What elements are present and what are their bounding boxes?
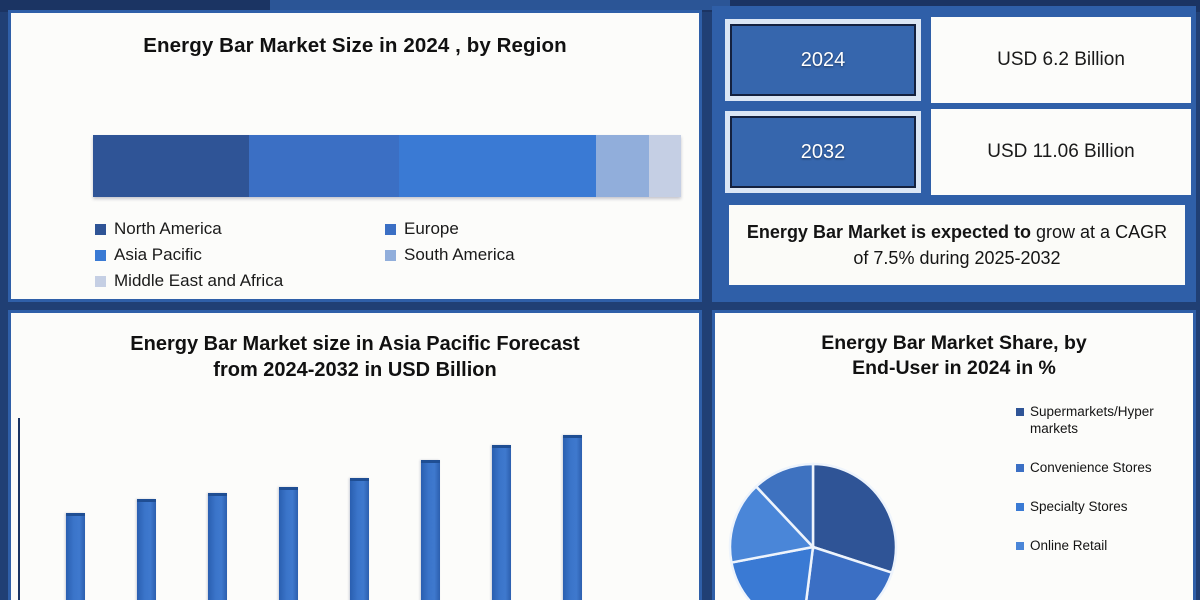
region-segment: [93, 135, 249, 197]
share-legend-item: Convenience Stores: [1016, 460, 1200, 477]
region-segment: [596, 135, 649, 197]
stat-year-box: 2024: [723, 17, 923, 103]
region-chart-title: Energy Bar Market Size in 2024 , by Regi…: [11, 33, 699, 60]
share-legend-item: Online Retail: [1016, 538, 1200, 555]
header-accent-bar: [270, 0, 730, 10]
share-legend-label: Specialty Stores: [1030, 499, 1128, 516]
share-legend: Supermarkets/Hyper marketsConvenience St…: [1016, 404, 1200, 576]
region-legend-item: North America: [95, 219, 385, 239]
region-legend: North AmericaEuropeAsia PacificSouth Ame…: [95, 219, 675, 297]
legend-swatch-icon: [95, 276, 106, 287]
forecast-bar: [563, 435, 582, 600]
pie-svg: [728, 462, 898, 600]
share-chart-title: Energy Bar Market Share, by End-User in …: [715, 331, 1193, 382]
forecast-bar: [421, 460, 440, 600]
share-title-line-1: Energy Bar Market Share, by: [737, 331, 1171, 356]
share-legend-label: Convenience Stores: [1030, 460, 1152, 477]
forecast-bar: [208, 493, 227, 600]
legend-swatch-icon: [95, 224, 106, 235]
legend-swatch-icon: [95, 250, 106, 261]
share-pie-chart: [728, 462, 898, 600]
stat-row: 2032 USD 11.06 Billion: [723, 109, 1191, 195]
region-legend-item: Middle East and Africa: [95, 271, 385, 291]
region-legend-label: Europe: [404, 219, 459, 239]
region-segment: [249, 135, 399, 197]
forecast-bar: [350, 478, 369, 600]
cagr-statement: Energy Bar Market is expected to grow at…: [729, 205, 1185, 285]
forecast-chart-title: Energy Bar Market size in Asia Pacific F…: [11, 331, 699, 383]
region-legend-label: South America: [404, 245, 515, 265]
stat-value-label: USD 6.2 Billion: [931, 17, 1191, 103]
forecast-bar: [492, 445, 511, 600]
stat-year-box: 2032: [723, 109, 923, 195]
region-legend-label: Middle East and Africa: [114, 271, 283, 291]
forecast-bar: [137, 499, 156, 600]
market-stats-panel: 2024 USD 6.2 Billion 2032 USD 11.06 Bill…: [712, 6, 1196, 302]
y-axis-line: [18, 418, 20, 600]
infographic-root: Energy Bar Market Size in 2024 , by Regi…: [0, 0, 1200, 600]
region-legend-item: South America: [385, 245, 675, 265]
share-legend-item: Supermarkets/Hyper markets: [1016, 404, 1200, 438]
region-legend-item: Europe: [385, 219, 675, 239]
forecast-bar: [66, 513, 85, 600]
region-legend-label: North America: [114, 219, 222, 239]
region-legend-label: Asia Pacific: [114, 245, 202, 265]
forecast-title-line-2: from 2024-2032 in USD Billion: [39, 357, 671, 383]
cagr-bold-text: Energy Bar Market is expected to: [747, 222, 1031, 242]
legend-swatch-icon: [385, 224, 396, 235]
share-legend-label: Supermarkets/Hyper markets: [1030, 404, 1200, 438]
forecast-bar: [279, 487, 298, 600]
share-title-line-2: End-User in 2024 in %: [737, 356, 1171, 381]
legend-swatch-icon: [1016, 408, 1024, 416]
region-legend-item: Asia Pacific: [95, 245, 385, 265]
stat-row: 2024 USD 6.2 Billion: [723, 17, 1191, 103]
region-segment: [399, 135, 596, 197]
forecast-bar-plot: [18, 418, 682, 600]
region-stacked-bar: [93, 135, 681, 197]
region-segment: [649, 135, 681, 197]
legend-swatch-icon: [1016, 542, 1024, 550]
stat-year-label: 2032: [730, 116, 916, 188]
stat-value-label: USD 11.06 Billion: [931, 109, 1191, 195]
share-legend-label: Online Retail: [1030, 538, 1107, 555]
forecast-title-line-1: Energy Bar Market size in Asia Pacific F…: [39, 331, 671, 357]
share-legend-item: Specialty Stores: [1016, 499, 1200, 516]
legend-swatch-icon: [385, 250, 396, 261]
stat-year-label: 2024: [730, 24, 916, 96]
region-chart-panel: Energy Bar Market Size in 2024 , by Regi…: [8, 10, 702, 302]
legend-swatch-icon: [1016, 503, 1024, 511]
legend-swatch-icon: [1016, 464, 1024, 472]
